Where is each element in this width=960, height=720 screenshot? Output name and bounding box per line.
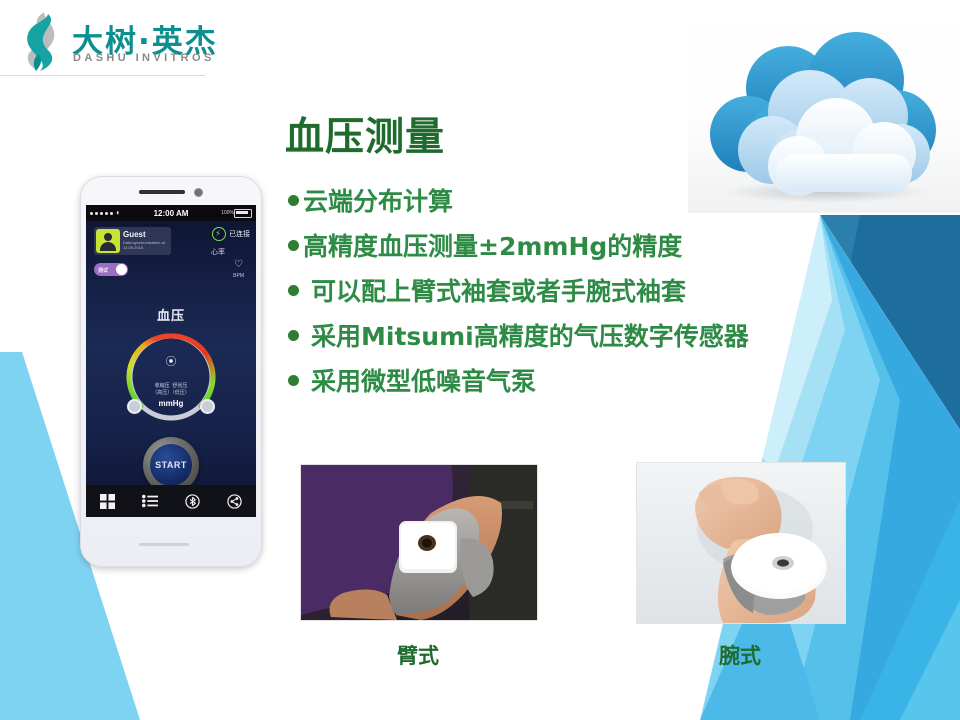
bullet-dot-icon bbox=[288, 195, 299, 206]
phone-home-indicator bbox=[139, 543, 189, 546]
header-divider bbox=[0, 75, 205, 76]
diastolic-sub: （低压） bbox=[172, 390, 190, 396]
wrist-cuff-photo bbox=[636, 462, 846, 624]
bullet-text: 可以配上臂式袖套或者手腕式袖套 bbox=[303, 275, 686, 308]
battery-icon bbox=[234, 209, 252, 218]
user-avatar-icon bbox=[96, 229, 120, 253]
cloud-illustration-icon bbox=[688, 8, 960, 213]
gauge-handle-right[interactable] bbox=[200, 399, 215, 414]
bullet-text: 采用微型低噪音气泵 bbox=[303, 365, 536, 398]
blood-pressure-gauge: ⦿ 收缩压 舒张压 （高压）（低压） mmHg bbox=[121, 327, 221, 427]
phone-camera-icon bbox=[194, 188, 203, 197]
list-item: 采用微型低噪音气泵 bbox=[288, 365, 848, 398]
bullet-dot-icon bbox=[288, 285, 299, 296]
bullet-dot-icon bbox=[288, 375, 299, 386]
grid-icon[interactable] bbox=[100, 494, 115, 509]
list-item: 高精度血压测量±2mmHg的精度 bbox=[288, 230, 848, 263]
bullet-dot-icon bbox=[288, 330, 299, 341]
bluetooth-icon[interactable] bbox=[185, 494, 200, 509]
connection-label: 已连接 bbox=[229, 229, 250, 239]
user-sync-text: Data synchronization at 14.09.2015 bbox=[123, 240, 169, 251]
wrist-cuff-caption: 腕式 bbox=[636, 640, 844, 670]
arm-cuff-photo bbox=[300, 464, 538, 621]
feature-bullet-list: 云端分布计算 高精度血压测量±2mmHg的精度 可以配上臂式袖套或者手腕式袖套 … bbox=[288, 185, 848, 410]
phone-status-bar: ◐ 12:00 AM 100% bbox=[86, 205, 256, 221]
bullet-text: 采用Mitsumi高精度的气压数字传感器 bbox=[303, 320, 749, 353]
slide-canvas: 大树·英杰 DASHU INVITROS 血压测量 云端分布计算 高精度血压测量… bbox=[0, 0, 960, 720]
list-item: 采用Mitsumi高精度的气压数字传感器 bbox=[288, 320, 848, 353]
arm-cuff-caption: 臂式 bbox=[300, 640, 536, 670]
start-button-label: START bbox=[150, 444, 192, 486]
screen-title: 血压 bbox=[86, 305, 256, 324]
leaf-flame-logo-icon bbox=[14, 10, 70, 72]
systolic-sub: （高压） bbox=[152, 390, 172, 396]
gauge-axis-labels: 收缩压 舒张压 （高压）（低压） bbox=[121, 383, 221, 397]
mode-toggle[interactable]: 测试 bbox=[94, 263, 128, 276]
diastolic-label: 舒张压 bbox=[172, 383, 187, 389]
page-title: 血压测量 bbox=[285, 106, 445, 162]
bullet-text: 云端分布计算 bbox=[303, 185, 453, 218]
mode-toggle-label: 测试 bbox=[98, 267, 108, 274]
user-card[interactable]: Guest Data synchronization at 14.09.2015 bbox=[94, 227, 171, 255]
gauge-handle-left[interactable] bbox=[127, 399, 142, 414]
bpm-unit: BPM bbox=[233, 273, 244, 279]
phone-speaker bbox=[139, 190, 185, 194]
phone-mockup: ◐ 12:00 AM 100% Guest Data synchronizati… bbox=[80, 176, 262, 567]
heart-rate-label: 心率 bbox=[211, 247, 225, 257]
systolic-label: 收缩压 bbox=[155, 383, 170, 389]
list-icon[interactable] bbox=[142, 494, 158, 508]
bluetooth-connected-icon bbox=[212, 227, 226, 241]
user-name: Guest bbox=[123, 230, 146, 239]
list-item: 可以配上臂式袖套或者手腕式袖套 bbox=[288, 275, 848, 308]
brand-name-en: DASHU INVITROS bbox=[73, 52, 215, 64]
brand-header: 大树·英杰 DASHU INVITROS bbox=[0, 0, 330, 80]
phone-screen: ◐ 12:00 AM 100% Guest Data synchronizati… bbox=[86, 205, 256, 517]
connection-status: 已连接 bbox=[212, 227, 250, 241]
bullet-text: 高精度血压测量±2mmHg的精度 bbox=[303, 230, 682, 263]
blood-drop-icon: ⦿ bbox=[121, 353, 221, 369]
heart-icon: ♡ bbox=[234, 260, 243, 270]
battery-percent: 100% bbox=[221, 210, 234, 216]
share-icon[interactable] bbox=[227, 494, 242, 509]
bullet-dot-icon bbox=[288, 240, 299, 251]
phone-bottom-nav bbox=[86, 485, 256, 517]
toggle-knob[interactable] bbox=[116, 264, 127, 275]
cloud-computing-image bbox=[688, 8, 960, 213]
